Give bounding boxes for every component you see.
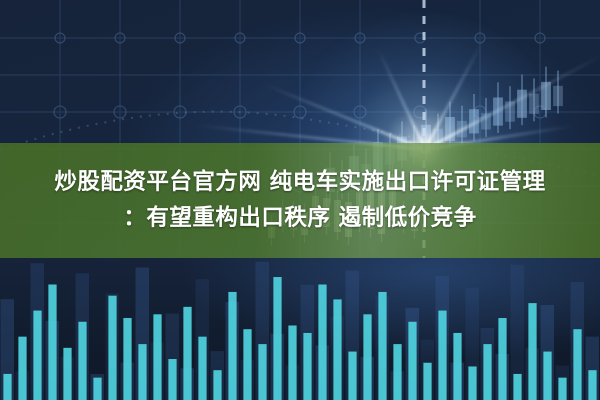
news-banner-image: 炒股配资平台官方网 纯电车实施出口许可证管理 ：有望重构出口秩序 遏制低价竞争: [0, 0, 600, 400]
headline-line-2: ：有望重构出口秩序 遏制低价竞争: [0, 202, 600, 235]
headline-line-1: 炒股配资平台官方网 纯电车实施出口许可证管理: [0, 166, 600, 199]
headline-banner: [0, 143, 600, 258]
